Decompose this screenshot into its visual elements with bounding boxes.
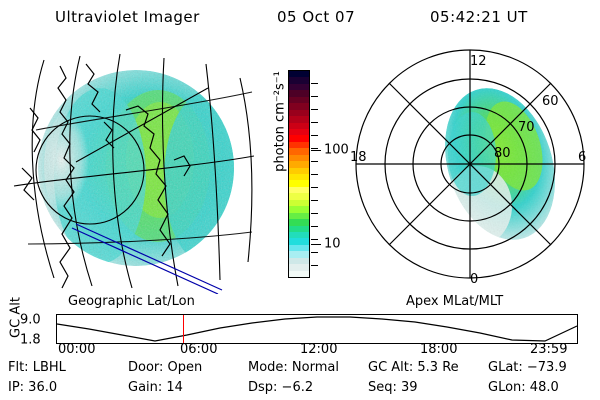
- mlat-ring-label: 70: [518, 120, 535, 135]
- status-field: Seq: 39: [368, 380, 418, 395]
- mlt-label: 12: [470, 54, 487, 69]
- colorbar-minor-tick: [311, 213, 318, 214]
- gc-alt-tick-high: 9.0: [20, 313, 41, 328]
- time-tick-label: 06:00: [180, 342, 217, 357]
- colorbar-minor-tick: [311, 161, 318, 162]
- time-tick-label: 18:00: [420, 342, 457, 357]
- intensity-colorbar: photon cm⁻²s⁻¹ 10010: [258, 62, 342, 292]
- dial-grid: [356, 50, 584, 278]
- colorbar-minor-tick: [311, 83, 318, 84]
- colorbar-band: [289, 271, 309, 277]
- uvi-summary-page: Ultraviolet Imager 05 Oct 07 05:42:21 UT: [0, 0, 600, 400]
- altitude-curve: [57, 315, 577, 343]
- time-tick-label: 00:00: [58, 342, 95, 357]
- observation-time: 05:42:21 UT: [430, 8, 528, 26]
- mlt-label: 6: [578, 150, 586, 165]
- status-field: GLat: −73.9: [488, 360, 567, 375]
- status-field: Gain: 14: [128, 380, 183, 395]
- status-field: GLon: 48.0: [488, 380, 559, 395]
- colorbar-major-tick: [311, 150, 321, 151]
- status-field: Flt: LBHL: [8, 360, 66, 375]
- status-field: Door: Open: [128, 360, 202, 375]
- status-field: IP: 36.0: [8, 380, 57, 395]
- colorbar-major-tick: [311, 244, 321, 245]
- time-tick-label: 12:00: [300, 342, 337, 357]
- colorbar-minor-tick: [311, 96, 318, 97]
- mlat-ring-label: 60: [542, 94, 559, 109]
- status-field: GC Alt: 5.3 Re: [368, 360, 459, 375]
- colorbar-minor-tick: [311, 122, 318, 123]
- colorbar-minor-tick: [311, 174, 318, 175]
- gc-alt-tick-low: 1.8: [20, 333, 41, 348]
- colorbar-gradient: [288, 70, 310, 278]
- status-field: Mode: Normal: [248, 360, 339, 375]
- mlat-ring-label: 80: [494, 146, 511, 161]
- orbit-altitude-strip[interactable]: Geographic Lat/Lon Apex MLat/MLT GC Alt …: [0, 296, 600, 354]
- time-tick-label: 23:59: [530, 342, 567, 357]
- colorbar-tick-label: 10: [324, 236, 341, 251]
- disk-canvas: [8, 48, 254, 294]
- disk-svg: [8, 48, 254, 294]
- colorbar-title: photon cm⁻²s⁻¹: [273, 42, 288, 202]
- status-footer: Flt: LBHLDoor: OpenMode: NormalGC Alt: 5…: [0, 356, 600, 400]
- colorbar-minor-tick: [311, 148, 318, 149]
- apex-mlat-mlt-dial[interactable]: 121860607080: [346, 46, 594, 294]
- strip-right-caption: Apex MLat/MLT: [406, 294, 503, 309]
- colorbar-minor-tick: [311, 135, 318, 136]
- colorbar-minor-tick: [311, 252, 318, 253]
- observation-date: 05 Oct 07: [277, 8, 355, 26]
- colorbar-minor-tick: [311, 187, 318, 188]
- colorbar-minor-tick: [311, 226, 318, 227]
- colorbar-minor-tick: [311, 109, 318, 110]
- dial-svg: [346, 46, 594, 294]
- colorbar-minor-tick: [311, 239, 318, 240]
- mlt-label: 18: [350, 150, 367, 165]
- time-cursor: [183, 315, 184, 343]
- page-title: Ultraviolet Imager: [55, 8, 200, 26]
- strip-plot-box: [56, 314, 578, 344]
- mlt-label: 0: [470, 272, 478, 287]
- status-field: Dsp: −6.2: [248, 380, 313, 395]
- geographic-disk-image[interactable]: [8, 48, 254, 294]
- strip-left-caption: Geographic Lat/Lon: [68, 294, 195, 309]
- colorbar-minor-tick: [311, 200, 318, 201]
- colorbar-minor-tick: [311, 265, 318, 266]
